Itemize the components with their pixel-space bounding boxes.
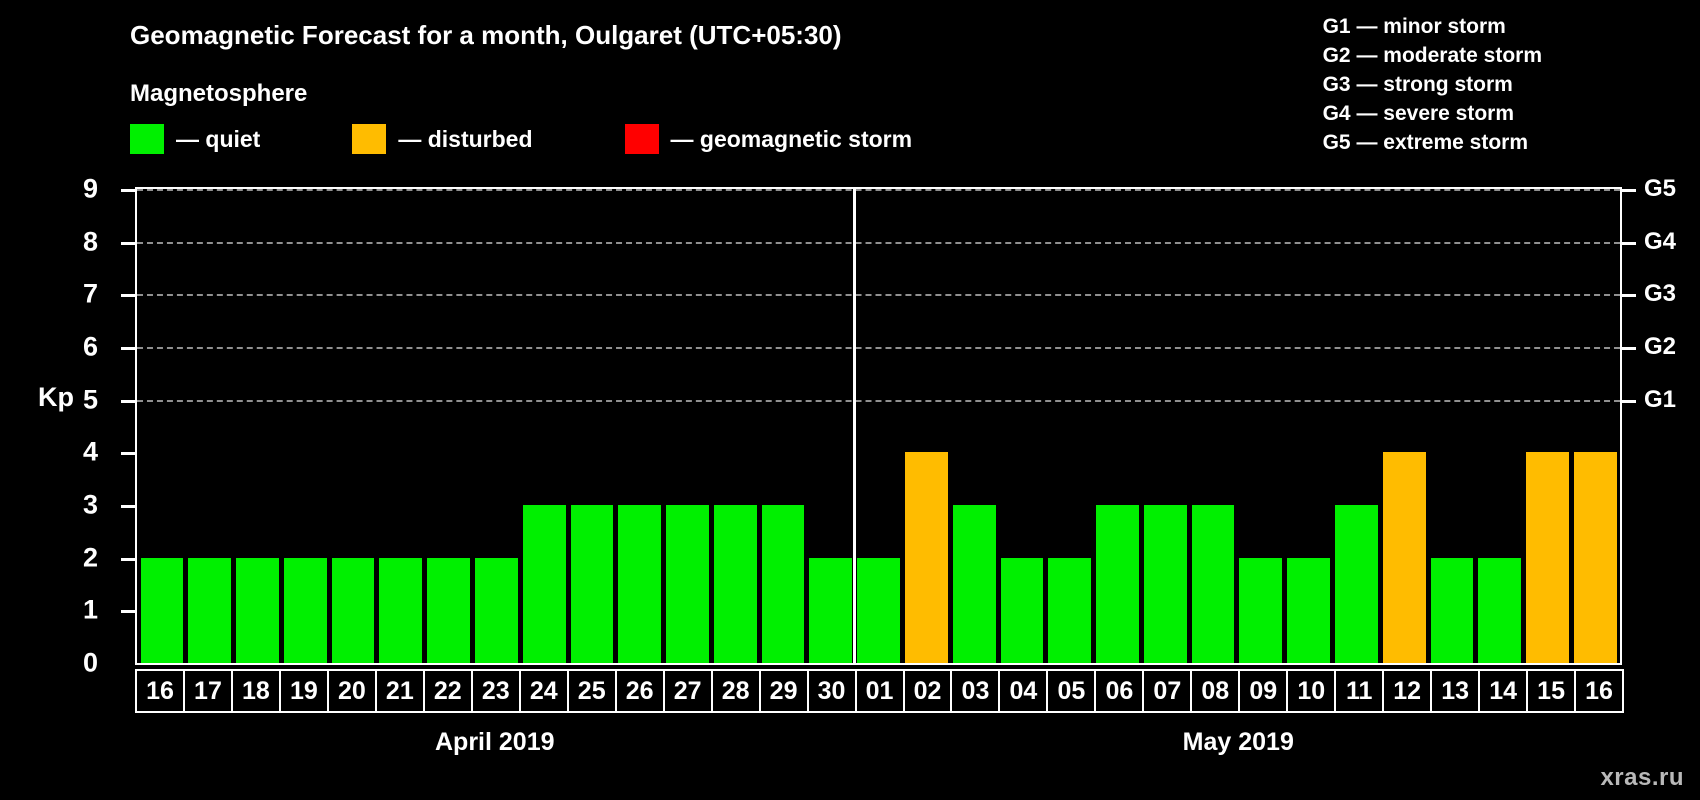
bar-cell[interactable]	[616, 189, 664, 663]
y-tick-label-9: 9	[58, 174, 98, 205]
month-caption-april-2019: April 2019	[435, 728, 555, 757]
date-cell-label: 24	[530, 679, 558, 704]
month-divider-line	[853, 189, 856, 663]
date-cell-label: 10	[1297, 679, 1325, 704]
date-cell-08[interactable]: 08	[1190, 669, 1240, 713]
bar-07[interactable]	[1144, 505, 1187, 663]
y-tick-label-0: 0	[58, 648, 98, 679]
date-cell-label: 26	[626, 679, 654, 704]
bar-cell[interactable]	[329, 189, 377, 663]
date-cell-15[interactable]: 15	[1526, 669, 1576, 713]
date-cell-label: 25	[578, 679, 606, 704]
y-tick-label-2: 2	[58, 542, 98, 573]
date-cell-label: 16	[146, 679, 174, 704]
bar-cell[interactable]	[1141, 189, 1189, 663]
date-cell-25[interactable]: 25	[567, 669, 617, 713]
bar-cell[interactable]	[807, 189, 855, 663]
bar-05[interactable]	[1048, 558, 1091, 663]
date-cell-label: 16	[1585, 679, 1613, 704]
bar-cell[interactable]	[1333, 189, 1381, 663]
bar-20[interactable]	[332, 558, 375, 663]
bar-30[interactable]	[809, 558, 852, 663]
date-cell-13[interactable]: 13	[1430, 669, 1480, 713]
bar-25[interactable]	[571, 505, 614, 663]
date-cell-label: 17	[194, 679, 222, 704]
date-cell-01[interactable]: 01	[855, 669, 905, 713]
bar-cell[interactable]	[759, 189, 807, 663]
date-cell-label: 11	[1346, 679, 1372, 704]
g-tick-mark-g4	[1622, 242, 1636, 245]
date-cell-29[interactable]: 29	[759, 669, 809, 713]
date-cell-16[interactable]: 16	[1574, 669, 1624, 713]
date-cell-label: 21	[386, 679, 414, 704]
bar-19[interactable]	[284, 558, 327, 663]
y-tick-label-6: 6	[58, 332, 98, 363]
bar-17[interactable]	[188, 558, 231, 663]
date-cell-14[interactable]: 14	[1478, 669, 1528, 713]
y-tick-label-5: 5	[58, 384, 98, 415]
date-cell-16[interactable]: 16	[135, 669, 185, 713]
date-cell-label: 18	[242, 679, 270, 704]
bar-cell[interactable]	[1189, 189, 1237, 663]
g-tick-label-g3: G3	[1644, 280, 1676, 308]
bar-cell[interactable]	[1524, 189, 1572, 663]
date-cell-05[interactable]: 05	[1046, 669, 1096, 713]
bar-cell[interactable]	[520, 189, 568, 663]
bar-cell[interactable]	[950, 189, 998, 663]
date-cell-label: 30	[818, 679, 846, 704]
y-tick-label-4: 4	[58, 437, 98, 468]
bar-12[interactable]	[1383, 452, 1426, 663]
y-tick-mark-5	[121, 400, 135, 403]
date-cell-02[interactable]: 02	[903, 669, 953, 713]
g-tick-label-g1: G1	[1644, 386, 1676, 414]
bar-cell[interactable]	[377, 189, 425, 663]
date-cell-label: 29	[770, 679, 798, 704]
date-cell-03[interactable]: 03	[950, 669, 1000, 713]
y-tick-label-8: 8	[58, 226, 98, 257]
bar-15[interactable]	[1526, 452, 1569, 663]
watermark: xras.ru	[1600, 764, 1684, 792]
bar-series	[137, 189, 1620, 663]
y-tick-label-3: 3	[58, 490, 98, 521]
date-cell-22[interactable]: 22	[423, 669, 473, 713]
bar-11[interactable]	[1335, 505, 1378, 663]
g-tick-label-g4: G4	[1644, 228, 1676, 256]
g-tick-label-g5: G5	[1644, 175, 1676, 203]
bar-cell[interactable]	[1285, 189, 1333, 663]
bar-23[interactable]	[475, 558, 518, 663]
date-cell-label: 15	[1537, 679, 1565, 704]
y-tick-mark-3	[121, 505, 135, 508]
bar-cell[interactable]	[1094, 189, 1142, 663]
date-cell-label: 20	[338, 679, 366, 704]
bar-22[interactable]	[427, 558, 470, 663]
bar-cell[interactable]	[472, 189, 520, 663]
y-tick-label-1: 1	[58, 595, 98, 626]
bar-09[interactable]	[1239, 558, 1282, 663]
y-tick-mark-7	[121, 294, 135, 297]
bar-18[interactable]	[236, 558, 279, 663]
bar-29[interactable]	[762, 505, 805, 663]
bar-28[interactable]	[714, 505, 757, 663]
bar-cell[interactable]	[1237, 189, 1285, 663]
date-cell-24[interactable]: 24	[519, 669, 569, 713]
month-caption-may-2019: May 2019	[1183, 728, 1294, 757]
date-cell-30[interactable]: 30	[807, 669, 857, 713]
bar-cell[interactable]	[1046, 189, 1094, 663]
plot-area	[135, 187, 1622, 665]
date-cell-label: 03	[962, 679, 990, 704]
date-cell-label: 27	[674, 679, 702, 704]
bar-cell[interactable]	[234, 189, 282, 663]
date-cell-06[interactable]: 06	[1094, 669, 1144, 713]
bar-01[interactable]	[857, 558, 900, 663]
bar-08[interactable]	[1192, 505, 1235, 663]
bar-cell[interactable]	[1428, 189, 1476, 663]
bar-27[interactable]	[666, 505, 709, 663]
date-cell-07[interactable]: 07	[1142, 669, 1192, 713]
date-cell-label: 08	[1201, 679, 1229, 704]
bar-cell[interactable]	[903, 189, 951, 663]
date-cell-19[interactable]: 19	[279, 669, 329, 713]
date-cell-label: 07	[1153, 679, 1181, 704]
bar-21[interactable]	[379, 558, 422, 663]
date-cell-20[interactable]: 20	[327, 669, 377, 713]
y-tick-label-7: 7	[58, 279, 98, 310]
bar-04[interactable]	[1001, 558, 1044, 663]
bar-cell[interactable]	[855, 189, 903, 663]
y-tick-mark-1	[121, 610, 135, 613]
bar-24[interactable]	[523, 505, 566, 663]
date-cell-28[interactable]: 28	[711, 669, 761, 713]
g-tick-mark-g3	[1622, 294, 1636, 297]
date-cell-09[interactable]: 09	[1238, 669, 1288, 713]
bar-cell[interactable]	[664, 189, 712, 663]
date-cell-21[interactable]: 21	[375, 669, 425, 713]
date-cell-label: 19	[290, 679, 318, 704]
date-cell-label: 05	[1057, 679, 1085, 704]
bar-cell[interactable]	[186, 189, 234, 663]
date-cell-label: 09	[1249, 679, 1277, 704]
bar-cell[interactable]	[1476, 189, 1524, 663]
bar-14[interactable]	[1478, 558, 1521, 663]
bar-cell[interactable]	[568, 189, 616, 663]
date-cell-label: 13	[1441, 679, 1469, 704]
y-tick-mark-6	[121, 347, 135, 350]
bar-10[interactable]	[1287, 558, 1330, 663]
bar-16[interactable]	[1574, 452, 1617, 663]
bar-13[interactable]	[1431, 558, 1474, 663]
x-axis-date-row: 1617181920212223242526272829300102030405…	[135, 669, 1622, 713]
bar-cell[interactable]	[1380, 189, 1428, 663]
date-cell-11[interactable]: 11	[1334, 669, 1384, 713]
y-tick-mark-8	[121, 242, 135, 245]
bar-cell[interactable]	[281, 189, 329, 663]
date-cell-label: 14	[1489, 679, 1517, 704]
date-cell-label: 23	[482, 679, 510, 704]
date-cell-label: 12	[1393, 679, 1421, 704]
bar-03[interactable]	[953, 505, 996, 663]
g-tick-mark-g2	[1622, 347, 1636, 350]
date-cell-27[interactable]: 27	[663, 669, 713, 713]
bar-06[interactable]	[1096, 505, 1139, 663]
date-cell-17[interactable]: 17	[183, 669, 233, 713]
bar-cell[interactable]	[711, 189, 759, 663]
bar-cell[interactable]	[998, 189, 1046, 663]
date-cell-label: 02	[914, 679, 942, 704]
date-cell-label: 28	[722, 679, 750, 704]
date-cell-10[interactable]: 10	[1286, 669, 1336, 713]
g-tick-mark-g5	[1622, 189, 1636, 192]
date-cell-23[interactable]: 23	[471, 669, 521, 713]
date-cell-label: 01	[866, 679, 894, 704]
bar-16[interactable]	[141, 558, 184, 663]
bar-cell[interactable]	[138, 189, 186, 663]
bar-cell[interactable]	[1571, 189, 1619, 663]
date-cell-label: 22	[434, 679, 462, 704]
date-cell-label: 06	[1105, 679, 1133, 704]
g-tick-label-g2: G2	[1644, 333, 1676, 361]
y-tick-mark-2	[121, 558, 135, 561]
date-cell-04[interactable]: 04	[998, 669, 1048, 713]
y-tick-mark-4	[121, 452, 135, 455]
bar-26[interactable]	[618, 505, 661, 663]
date-cell-26[interactable]: 26	[615, 669, 665, 713]
date-cell-18[interactable]: 18	[231, 669, 281, 713]
date-cell-12[interactable]: 12	[1382, 669, 1432, 713]
date-cell-label: 04	[1010, 679, 1038, 704]
bar-cell[interactable]	[425, 189, 473, 663]
y-tick-mark-9	[121, 189, 135, 192]
bar-02[interactable]	[905, 452, 948, 663]
g-tick-mark-g1	[1622, 400, 1636, 403]
